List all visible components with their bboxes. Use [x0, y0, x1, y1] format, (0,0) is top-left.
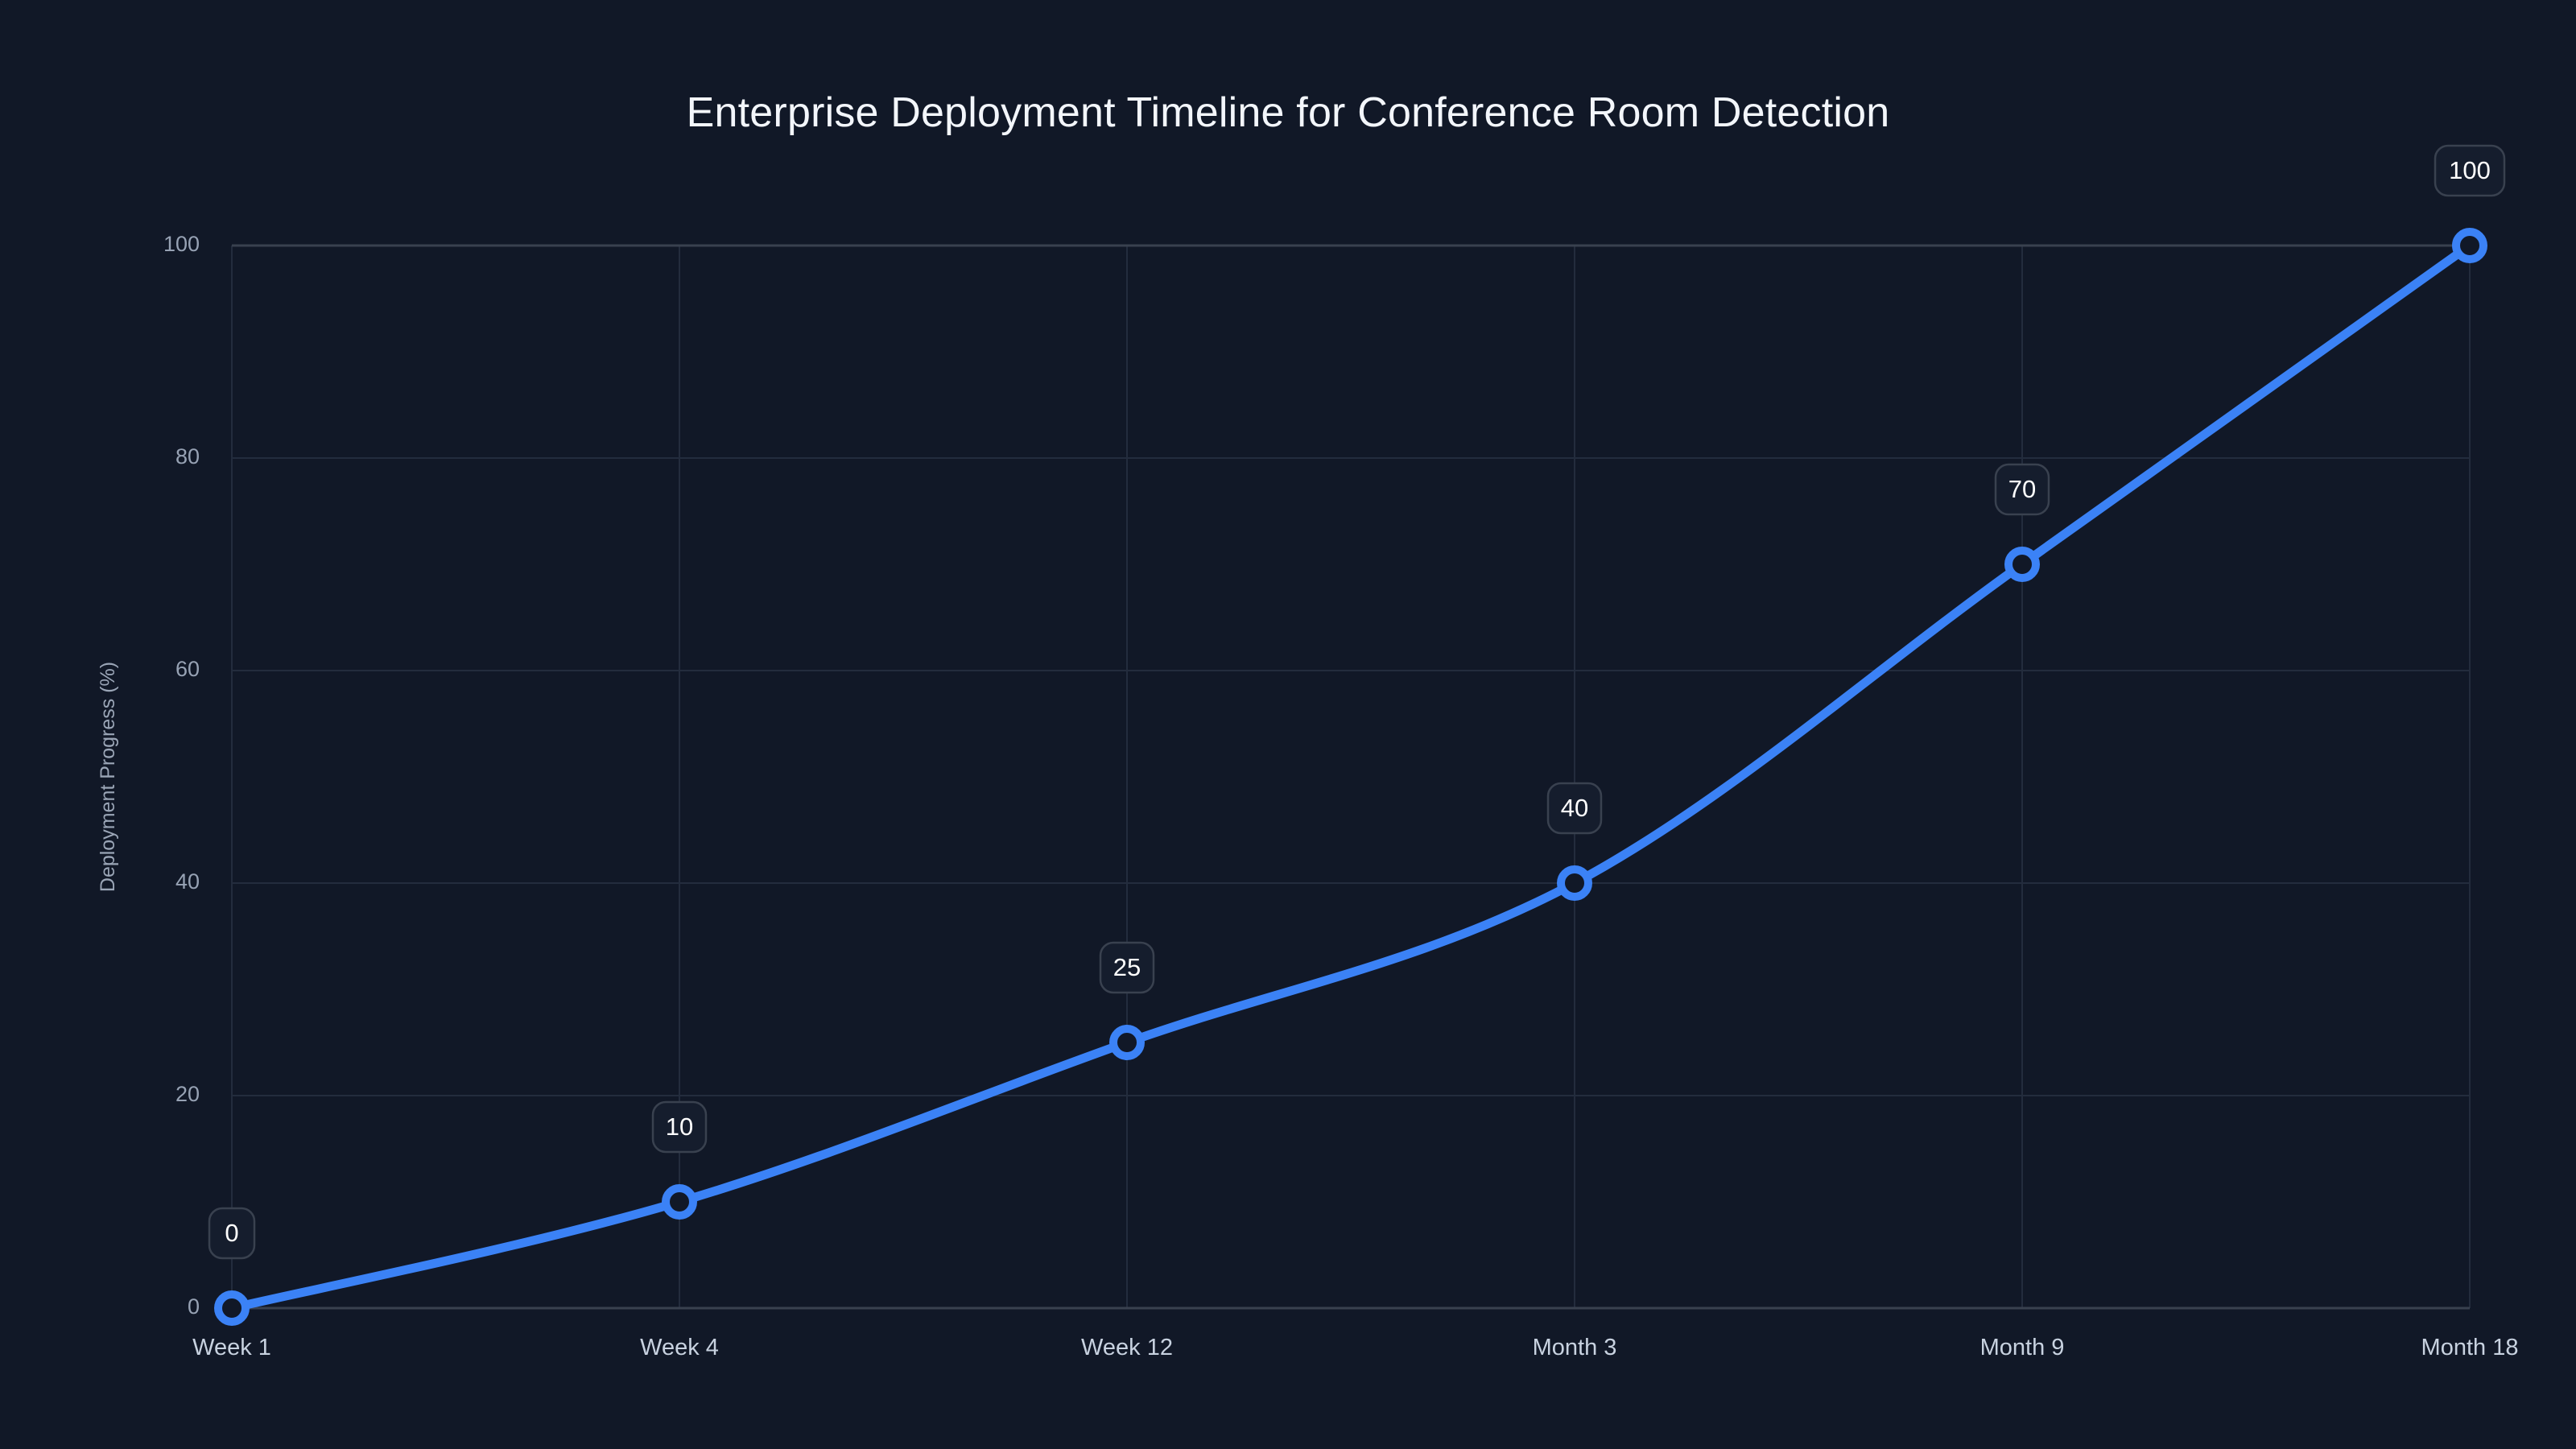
y-tick-label: 80 [175, 444, 200, 469]
data-point-markers [218, 232, 2483, 1322]
chart-container: Enterprise Deployment Timeline for Confe… [0, 0, 2576, 1449]
y-tick-label: 0 [188, 1294, 200, 1319]
y-axis-tick-labels: 020406080100 [163, 232, 200, 1319]
axis-lines [232, 246, 2470, 1308]
data-point-label-text: 0 [225, 1219, 238, 1247]
y-tick-label: 20 [175, 1082, 200, 1106]
horizontal-gridlines [232, 246, 2470, 1308]
data-point-label-text: 10 [666, 1113, 693, 1141]
y-tick-label: 100 [163, 232, 200, 256]
data-point-label: 100 [2435, 146, 2504, 196]
y-tick-label: 40 [175, 869, 200, 894]
x-axis-tick-labels: Week 1Week 4Week 12Month 3Month 9Month 1… [192, 1335, 2518, 1360]
x-tick-label: Week 4 [640, 1335, 719, 1360]
data-point-label-text: 70 [2008, 475, 2036, 503]
x-tick-label: Month 3 [1533, 1335, 1617, 1360]
x-tick-label: Month 18 [2421, 1335, 2519, 1360]
data-point-marker[interactable] [218, 1294, 246, 1322]
data-point-marker[interactable] [2456, 232, 2483, 259]
series-line-deployment-progress [232, 246, 2470, 1308]
series-path [232, 246, 2470, 1308]
data-point-marker[interactable] [1113, 1029, 1141, 1056]
data-point-marker[interactable] [666, 1188, 693, 1216]
vertical-gridlines [232, 246, 2470, 1308]
data-point-label-text: 25 [1113, 953, 1141, 981]
data-point-label: 25 [1100, 943, 1154, 993]
data-point-label-text: 40 [1561, 794, 1588, 822]
data-point-label: 10 [653, 1102, 706, 1152]
data-point-marker[interactable] [1561, 869, 1588, 897]
x-tick-label: Week 1 [192, 1335, 271, 1360]
data-point-label-text: 100 [2449, 156, 2491, 184]
y-axis-title: Deployment Progress (%) [97, 662, 119, 892]
data-point-label: 70 [1996, 464, 2049, 514]
line-chart-plot: 020406080100 Week 1Week 4Week 12Month 3M… [0, 0, 2576, 1449]
data-point-labels: 010254070100 [209, 146, 2504, 1258]
x-tick-label: Month 9 [1980, 1335, 2065, 1360]
data-point-label: 0 [209, 1208, 254, 1258]
data-point-marker[interactable] [2008, 551, 2036, 578]
y-tick-label: 60 [175, 657, 200, 681]
data-point-label: 40 [1548, 783, 1601, 833]
x-tick-label: Week 12 [1081, 1335, 1173, 1360]
y-axis-title: Deployment Progress (%) [97, 662, 119, 892]
